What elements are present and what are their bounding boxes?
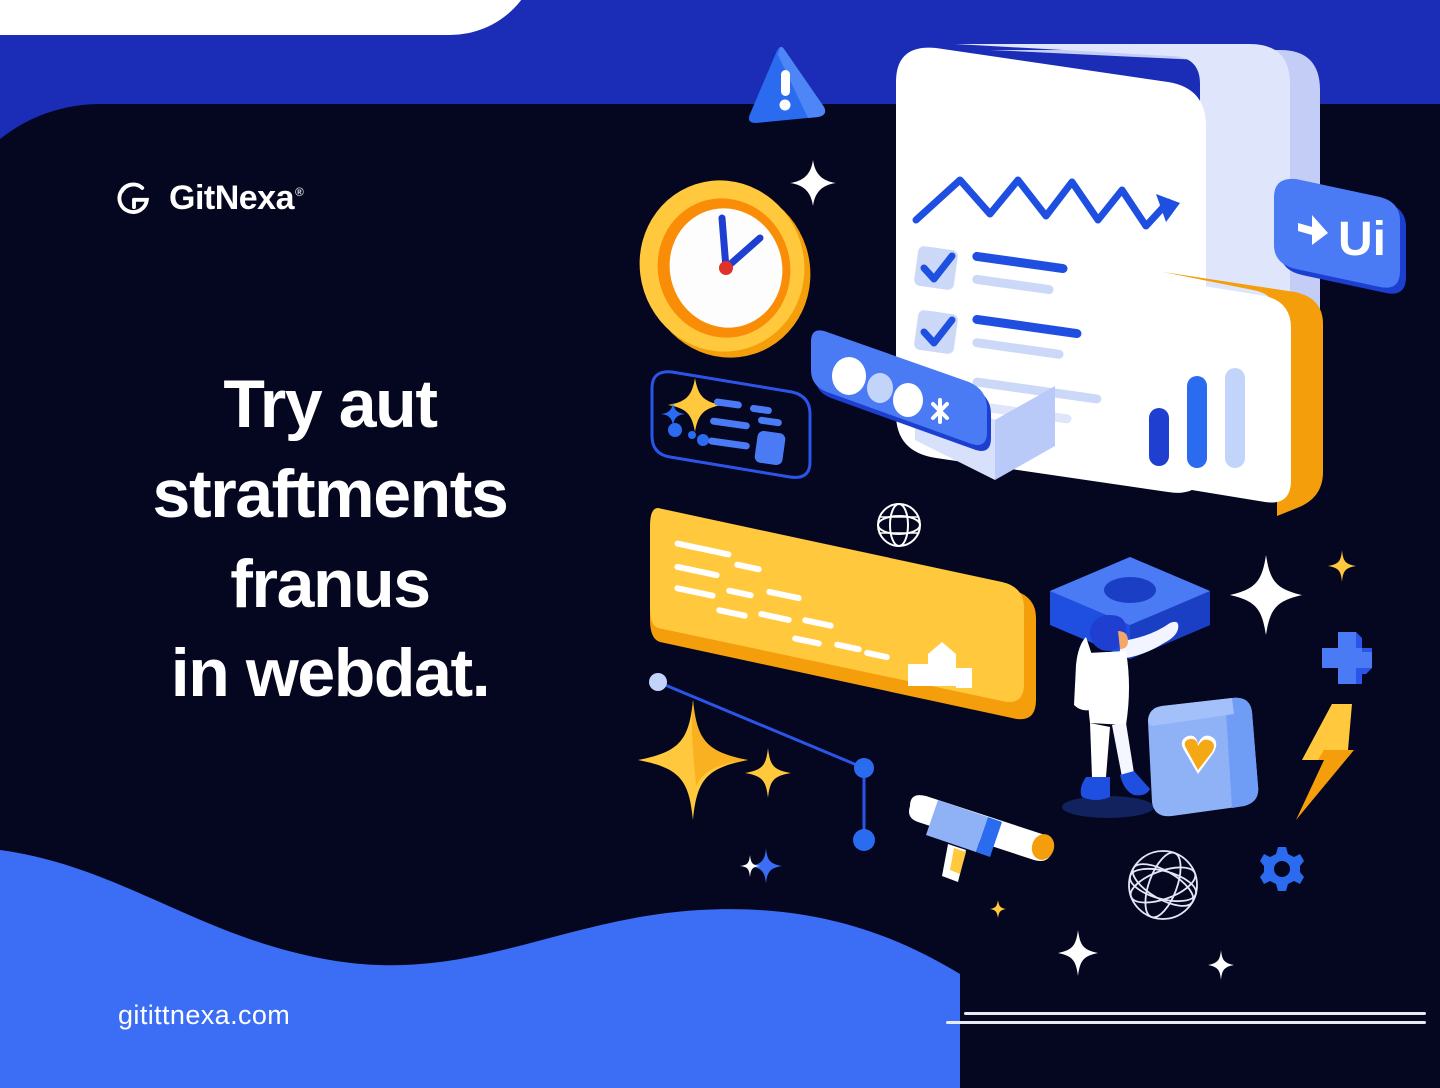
gitnexa-g-logo-icon	[112, 176, 156, 220]
site-url[interactable]: gitittnexa.com	[118, 1000, 290, 1031]
brand-name-text: GitNexa	[169, 179, 294, 217]
gear-icon	[1258, 845, 1306, 893]
lightning-bolt-icon	[1286, 702, 1362, 822]
clock-icon	[628, 172, 828, 362]
brand-logo: GitNexa®	[112, 176, 303, 220]
connector-node-line	[646, 668, 906, 868]
headline-line-1: Try aut	[0, 360, 660, 450]
background-top-white-shape	[0, 0, 540, 35]
footer-rule-top	[964, 1012, 1426, 1015]
heart-cube[interactable]	[1140, 688, 1270, 828]
bar-chart-card[interactable]	[1105, 258, 1355, 558]
headline-line-3: franus	[0, 540, 660, 630]
headline-line-2: straftments	[0, 450, 660, 540]
headline: Try aut straftments franus in webdat.	[0, 360, 660, 719]
headline-line-4: in webdat.	[0, 629, 660, 719]
trademark-symbol: ®	[295, 185, 303, 199]
four-point-star-icon	[990, 900, 1006, 918]
four-point-star-icon	[1208, 950, 1234, 980]
wireframe-sphere-icon	[1118, 840, 1208, 930]
four-point-star-icon	[1230, 555, 1302, 635]
four-point-star-icon	[1328, 550, 1356, 582]
media-control-bar[interactable]	[805, 320, 1075, 520]
plus-cube-icon	[1316, 628, 1378, 690]
poster-canvas: GitNexa® Try aut straftments franus in w…	[0, 0, 1440, 1088]
four-point-star-icon	[740, 855, 760, 877]
footer-rules	[940, 1012, 1440, 1024]
warning-triangle-icon	[738, 35, 838, 135]
brand-name: GitNexa®	[169, 179, 303, 218]
four-point-star-icon	[1058, 930, 1098, 976]
illustration-stage: Ui	[600, 0, 1440, 1000]
footer-rule-bottom	[946, 1021, 1426, 1024]
dark-outline-list-card[interactable]	[640, 358, 820, 498]
